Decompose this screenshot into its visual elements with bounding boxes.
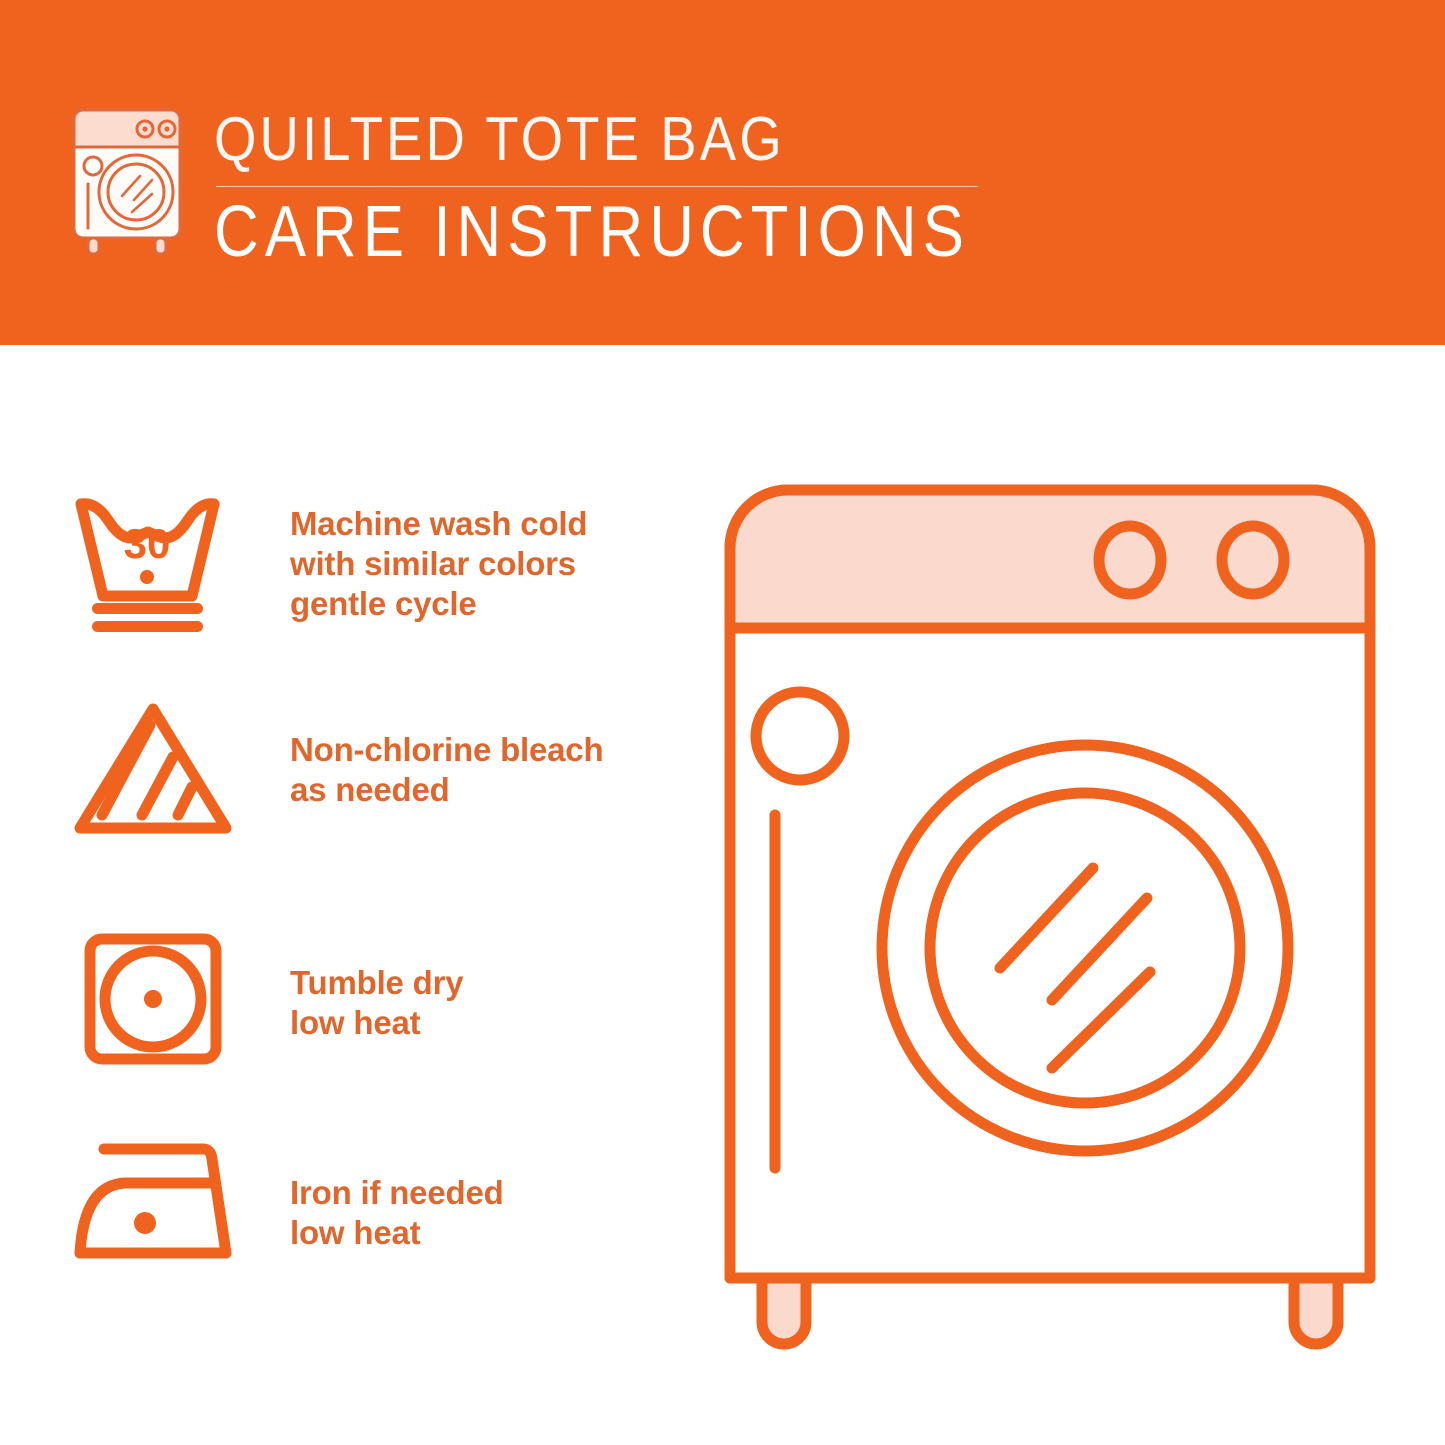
- care-row-wash: 30 Machine wash cold with similar colors…: [0, 490, 700, 665]
- control-panel: [730, 490, 1370, 628]
- header-band: QUILTED TOTE BAG CARE INSTRUCTIONS: [0, 0, 1445, 345]
- wash-tub-30-gentle-icon: 30: [70, 490, 225, 645]
- care-row-bleach: Non-chlorine bleach as needed: [0, 695, 700, 855]
- non-chlorine-bleach-triangle-icon: [68, 695, 238, 850]
- page-title: CARE INSTRUCTIONS: [214, 192, 970, 272]
- care-text-wash: Machine wash cold with similar colors ge…: [290, 504, 587, 624]
- care-row-iron: Iron if needed low heat: [0, 1135, 700, 1295]
- front-load-washing-machine-illustration: [700, 460, 1400, 1380]
- wash-temperature-label: 30: [124, 520, 171, 567]
- care-text-dry: Tumble dry low heat: [290, 963, 463, 1043]
- care-text-bleach: Non-chlorine bleach as needed: [290, 730, 603, 810]
- title-divider: [216, 186, 978, 187]
- care-text-iron: Iron if needed low heat: [290, 1173, 504, 1253]
- washing-machine-icon: [66, 104, 188, 256]
- tumble-dry-low-icon: [80, 925, 230, 1080]
- product-title: QUILTED TOTE BAG: [214, 104, 909, 176]
- header-title-group: QUILTED TOTE BAG CARE INSTRUCTIONS: [214, 104, 1004, 254]
- leg-right: [1294, 1278, 1338, 1344]
- leg-left: [762, 1278, 806, 1344]
- iron-low-heat-icon: [68, 1135, 243, 1275]
- care-row-dry: Tumble dry low heat: [0, 925, 700, 1085]
- care-instruction-list: 30 Machine wash cold with similar colors…: [0, 345, 700, 1445]
- care-instructions-page: QUILTED TOTE BAG CARE INSTRUCTIONS: [0, 0, 1445, 1445]
